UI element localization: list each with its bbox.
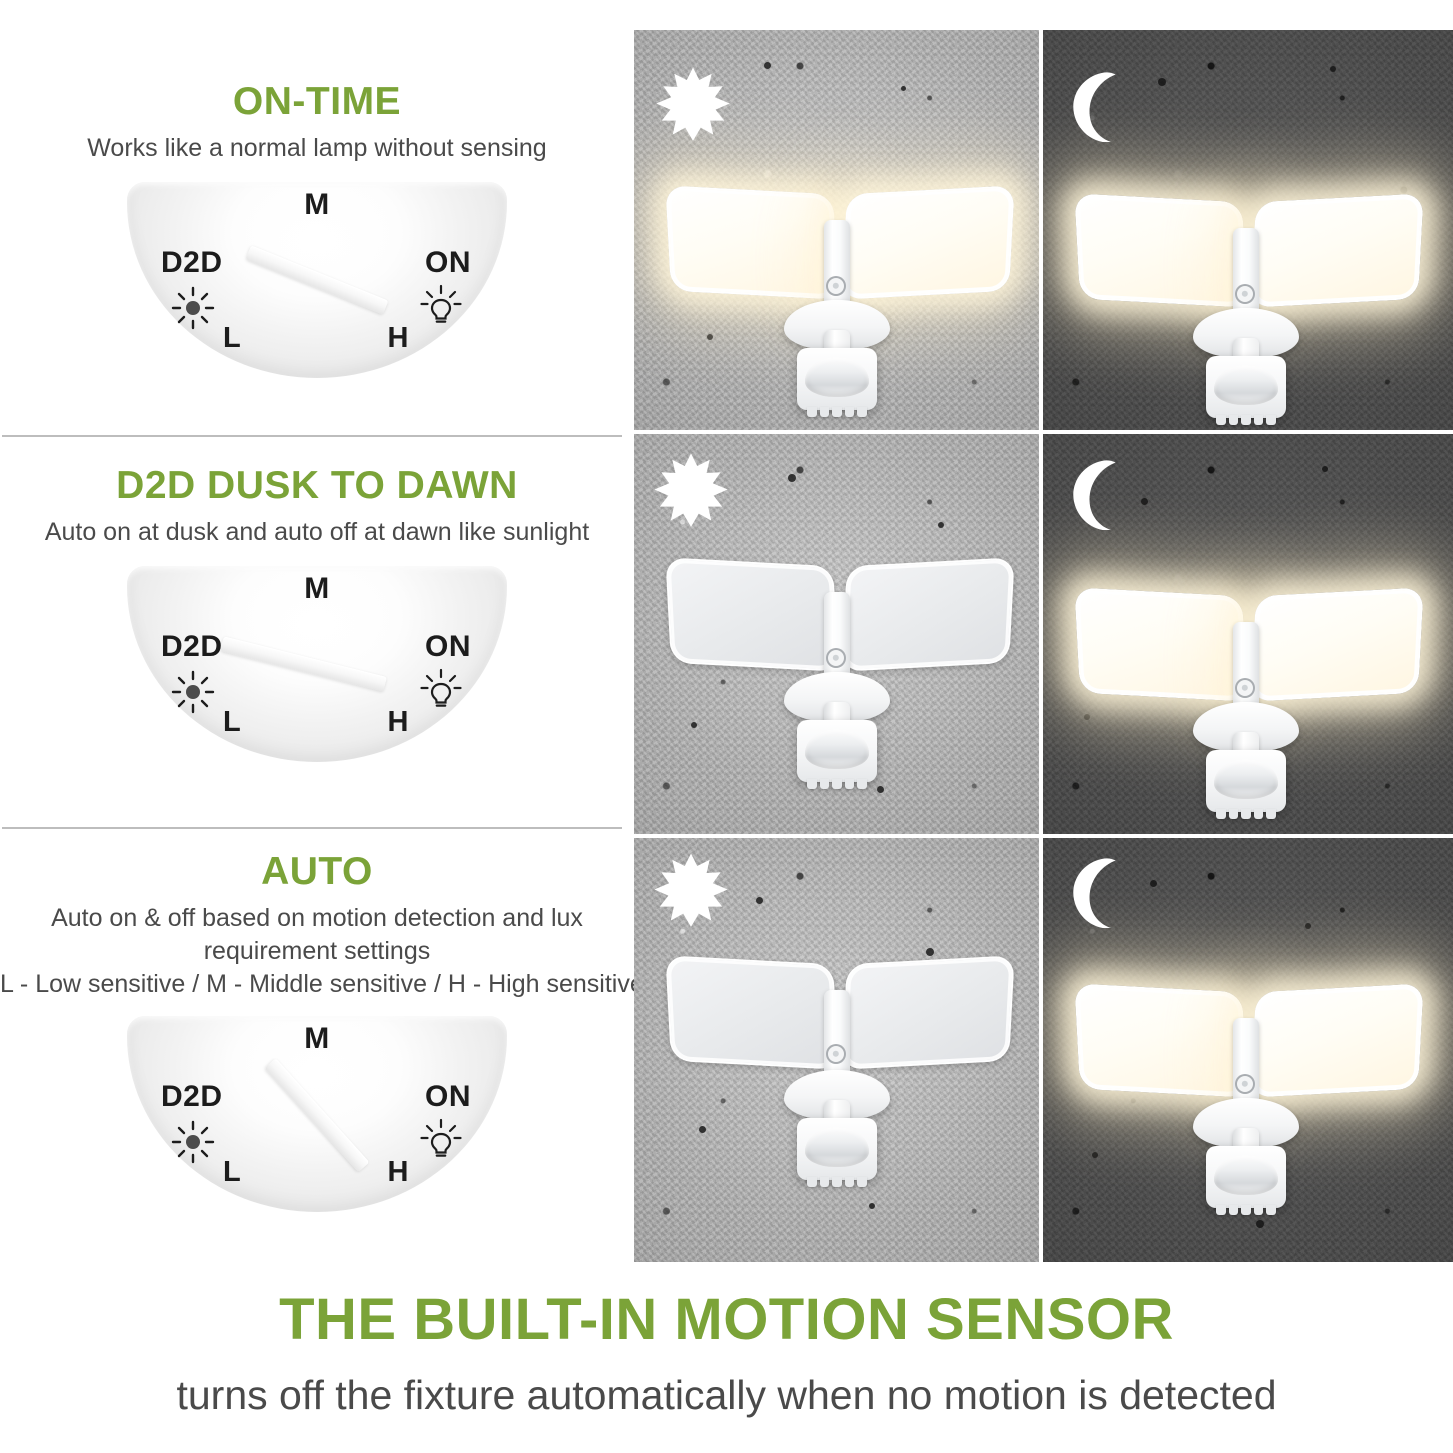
- section-divider-2: [2, 827, 622, 829]
- dial-label-l: L: [223, 706, 241, 739]
- dial-label-l: L: [223, 1156, 241, 1189]
- footer-section: THE BUILT-IN MOTION SENSOR turns off the…: [0, 1262, 1453, 1453]
- lamp-hinge-icon: [1235, 678, 1255, 698]
- dial-label-m: M: [304, 1022, 330, 1056]
- lamp-hinge-icon: [826, 648, 846, 668]
- lamp-panel-left: [665, 557, 838, 671]
- motion-sensor-dome: [805, 357, 869, 397]
- moon-icon: [1065, 854, 1139, 933]
- lamp-panel-left: [1074, 983, 1247, 1097]
- motion-sensor-dome: [805, 1127, 869, 1167]
- sun-icon: [654, 66, 732, 149]
- lamp-hinge-icon: [1235, 284, 1255, 304]
- mode-title-d2d: D2D DUSK TO DAWN: [0, 466, 634, 507]
- dial-label-on: ON: [425, 1080, 471, 1114]
- lightbulb-icon: [419, 1118, 463, 1162]
- lightbulb-icon: [419, 668, 463, 712]
- photo-on-time-day: [634, 30, 1039, 430]
- lamp-panel-right: [1250, 193, 1423, 307]
- mode-desc-d2d: Auto on at dusk and auto off at dawn lik…: [0, 516, 634, 548]
- infographic-root: ON-TIME Works like a normal lamp without…: [0, 0, 1453, 1453]
- mode-block-d2d: D2D DUSK TO DAWN Auto on at dusk and aut…: [0, 466, 634, 762]
- lamp-panel-left: [1074, 587, 1247, 701]
- lamp-panel-right: [841, 185, 1014, 299]
- dial-label-d2d: D2D: [161, 630, 223, 664]
- motion-sensor-dome: [1214, 365, 1278, 405]
- mode-block-on-time: ON-TIME Works like a normal lamp without…: [0, 82, 634, 378]
- motion-sensor-housing: [1206, 750, 1286, 812]
- motion-sensor-housing: [797, 348, 877, 410]
- motion-sensor-dome: [1214, 1155, 1278, 1195]
- lightbulb-icon: [419, 284, 463, 328]
- dial-label-h: H: [388, 1156, 409, 1189]
- sensor-vent-teeth: [1216, 809, 1276, 819]
- mode-block-auto: AUTO Auto on & off based on motion detec…: [0, 852, 634, 1212]
- sun-icon: [171, 670, 215, 714]
- modes-column: ON-TIME Works like a normal lamp without…: [0, 0, 634, 1262]
- dial-label-h: H: [388, 322, 409, 355]
- dial-label-d2d: D2D: [161, 1080, 223, 1114]
- lamp-panel-left: [665, 955, 838, 1069]
- sensor-vent-teeth: [807, 779, 867, 789]
- section-divider-1: [2, 435, 622, 437]
- moon-icon: [1065, 456, 1139, 535]
- motion-sensor-housing: [797, 720, 877, 782]
- sensor-vent-teeth: [1216, 415, 1276, 425]
- dial-auto[interactable]: M D2D ON L H: [127, 1016, 507, 1212]
- photo-auto-day: [634, 838, 1039, 1262]
- lamp-hinge-icon: [826, 1044, 846, 1064]
- footer-subline: turns off the fixture automatically when…: [0, 1372, 1453, 1419]
- sun-icon: [171, 1120, 215, 1164]
- mode-title-auto: AUTO: [0, 852, 634, 893]
- dial-label-d2d: D2D: [161, 246, 223, 280]
- moon-icon: [1065, 68, 1139, 147]
- mode-desc-auto-line3: L - Low sensitive / M - Middle sensitive…: [0, 968, 634, 1000]
- motion-sensor-housing: [1206, 1146, 1286, 1208]
- dial-label-m: M: [304, 572, 330, 606]
- motion-sensor-dome: [1214, 759, 1278, 799]
- lamp-hinge-icon: [826, 276, 846, 296]
- lamp-panel-left: [1074, 193, 1247, 307]
- footer-headline: THE BUILT-IN MOTION SENSOR: [0, 1286, 1453, 1353]
- sun-icon: [652, 452, 730, 535]
- lamp-panel-right: [841, 955, 1014, 1069]
- dial-label-m: M: [304, 188, 330, 222]
- dial-label-l: L: [223, 322, 241, 355]
- lamp-panel-right: [1250, 983, 1423, 1097]
- dial-d2d[interactable]: M D2D ON L H: [127, 566, 507, 762]
- mode-desc-on-time: Works like a normal lamp without sensing: [0, 132, 634, 164]
- sensor-vent-teeth: [807, 407, 867, 417]
- sensor-vent-teeth: [807, 1177, 867, 1187]
- motion-sensor-housing: [797, 1118, 877, 1180]
- dial-label-on: ON: [425, 630, 471, 664]
- photo-on-time-night: [1043, 30, 1453, 430]
- lamp-panel-right: [1250, 587, 1423, 701]
- mode-desc-auto-line2: requirement settings: [0, 935, 634, 967]
- photo-auto-night: [1043, 838, 1453, 1262]
- motion-sensor-dome: [805, 729, 869, 769]
- photo-d2d-day: [634, 434, 1039, 834]
- mode-desc-auto-line1: Auto on & off based on motion detection …: [0, 902, 634, 934]
- motion-sensor-housing: [1206, 356, 1286, 418]
- sun-icon: [171, 286, 215, 330]
- sensor-vent-teeth: [1216, 1205, 1276, 1215]
- photo-d2d-night: [1043, 434, 1453, 834]
- dial-on-time[interactable]: M D2D ON L H: [127, 182, 507, 378]
- dial-label-on: ON: [425, 246, 471, 280]
- lamp-hinge-icon: [1235, 1074, 1255, 1094]
- mode-title-on-time: ON-TIME: [0, 82, 634, 123]
- dial-label-h: H: [388, 706, 409, 739]
- photo-grid: [634, 30, 1453, 1262]
- sun-icon: [652, 852, 730, 935]
- lamp-panel-right: [841, 557, 1014, 671]
- lamp-panel-left: [665, 185, 838, 299]
